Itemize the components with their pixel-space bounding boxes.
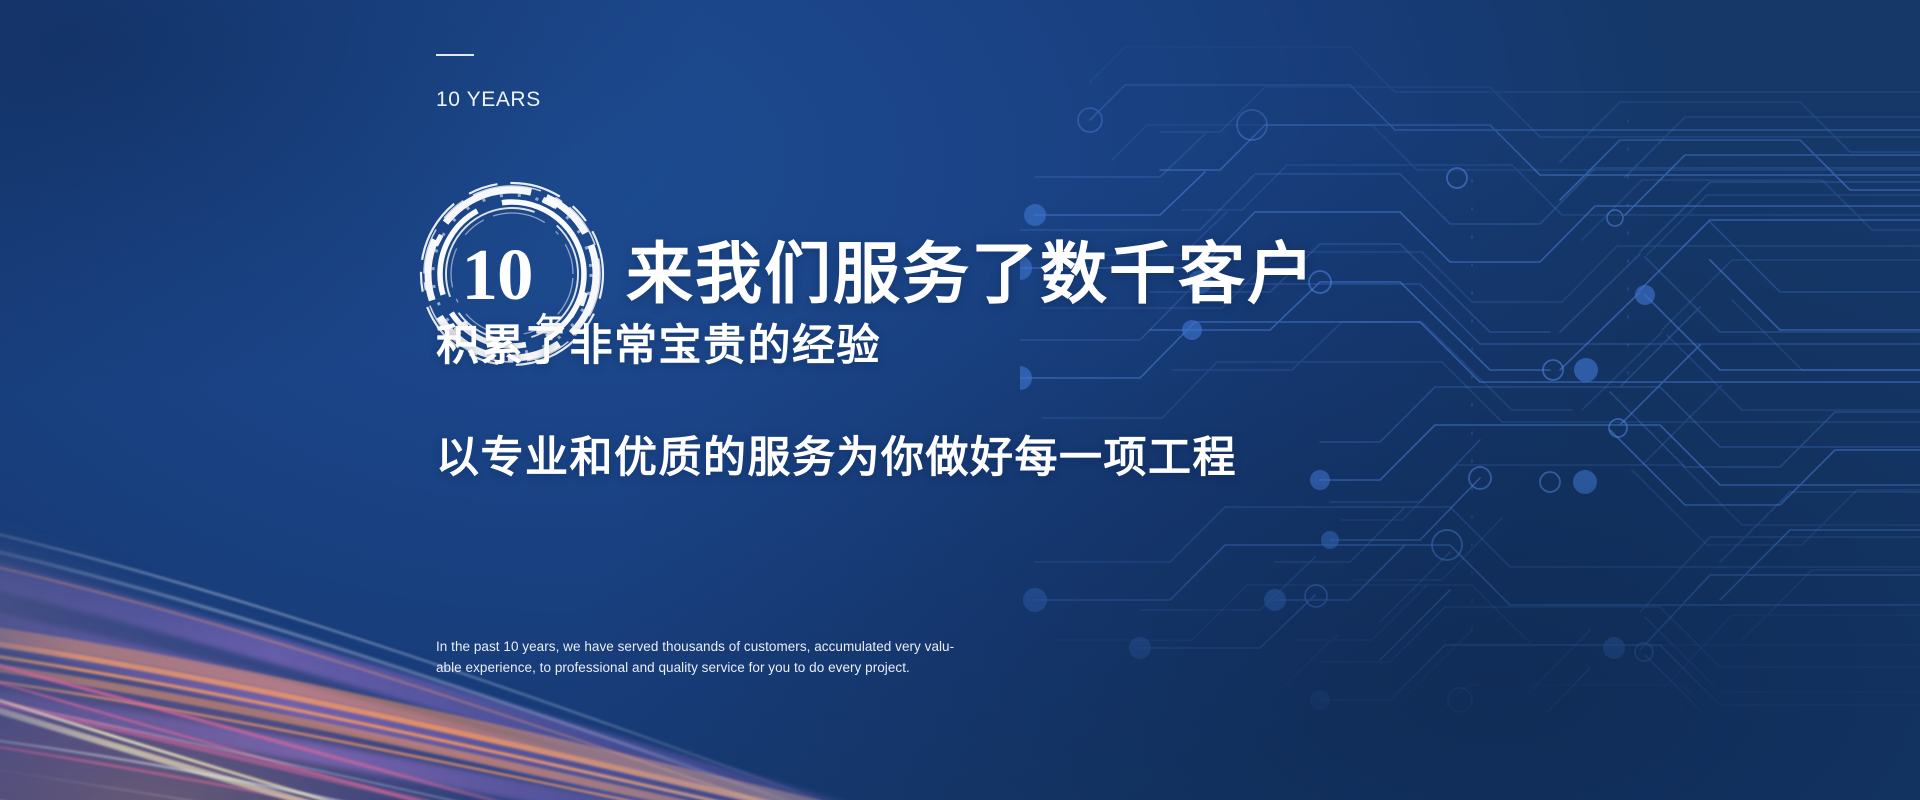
ten-years-banner: 10 YEARS <box>0 0 1920 800</box>
subheadline-service: 以专业和优质的服务为你做好每一项工程 <box>436 437 1237 480</box>
subheadline-experience: 积累了非常宝贵的经验 <box>436 325 881 368</box>
horizontal-rule-icon <box>436 54 474 56</box>
page-title: 来我们服务了数千客户 <box>626 241 1316 308</box>
description-line-2: able experience, to professional and qua… <box>436 658 971 679</box>
banner-content: 10 YEARS <box>436 0 1636 800</box>
eyebrow-label: 10 YEARS <box>436 88 541 112</box>
description-paragraph: In the past 10 years, we have served tho… <box>436 637 971 679</box>
badge-number: 10 <box>461 238 532 311</box>
description-line-1: In the past 10 years, we have served tho… <box>436 637 971 658</box>
